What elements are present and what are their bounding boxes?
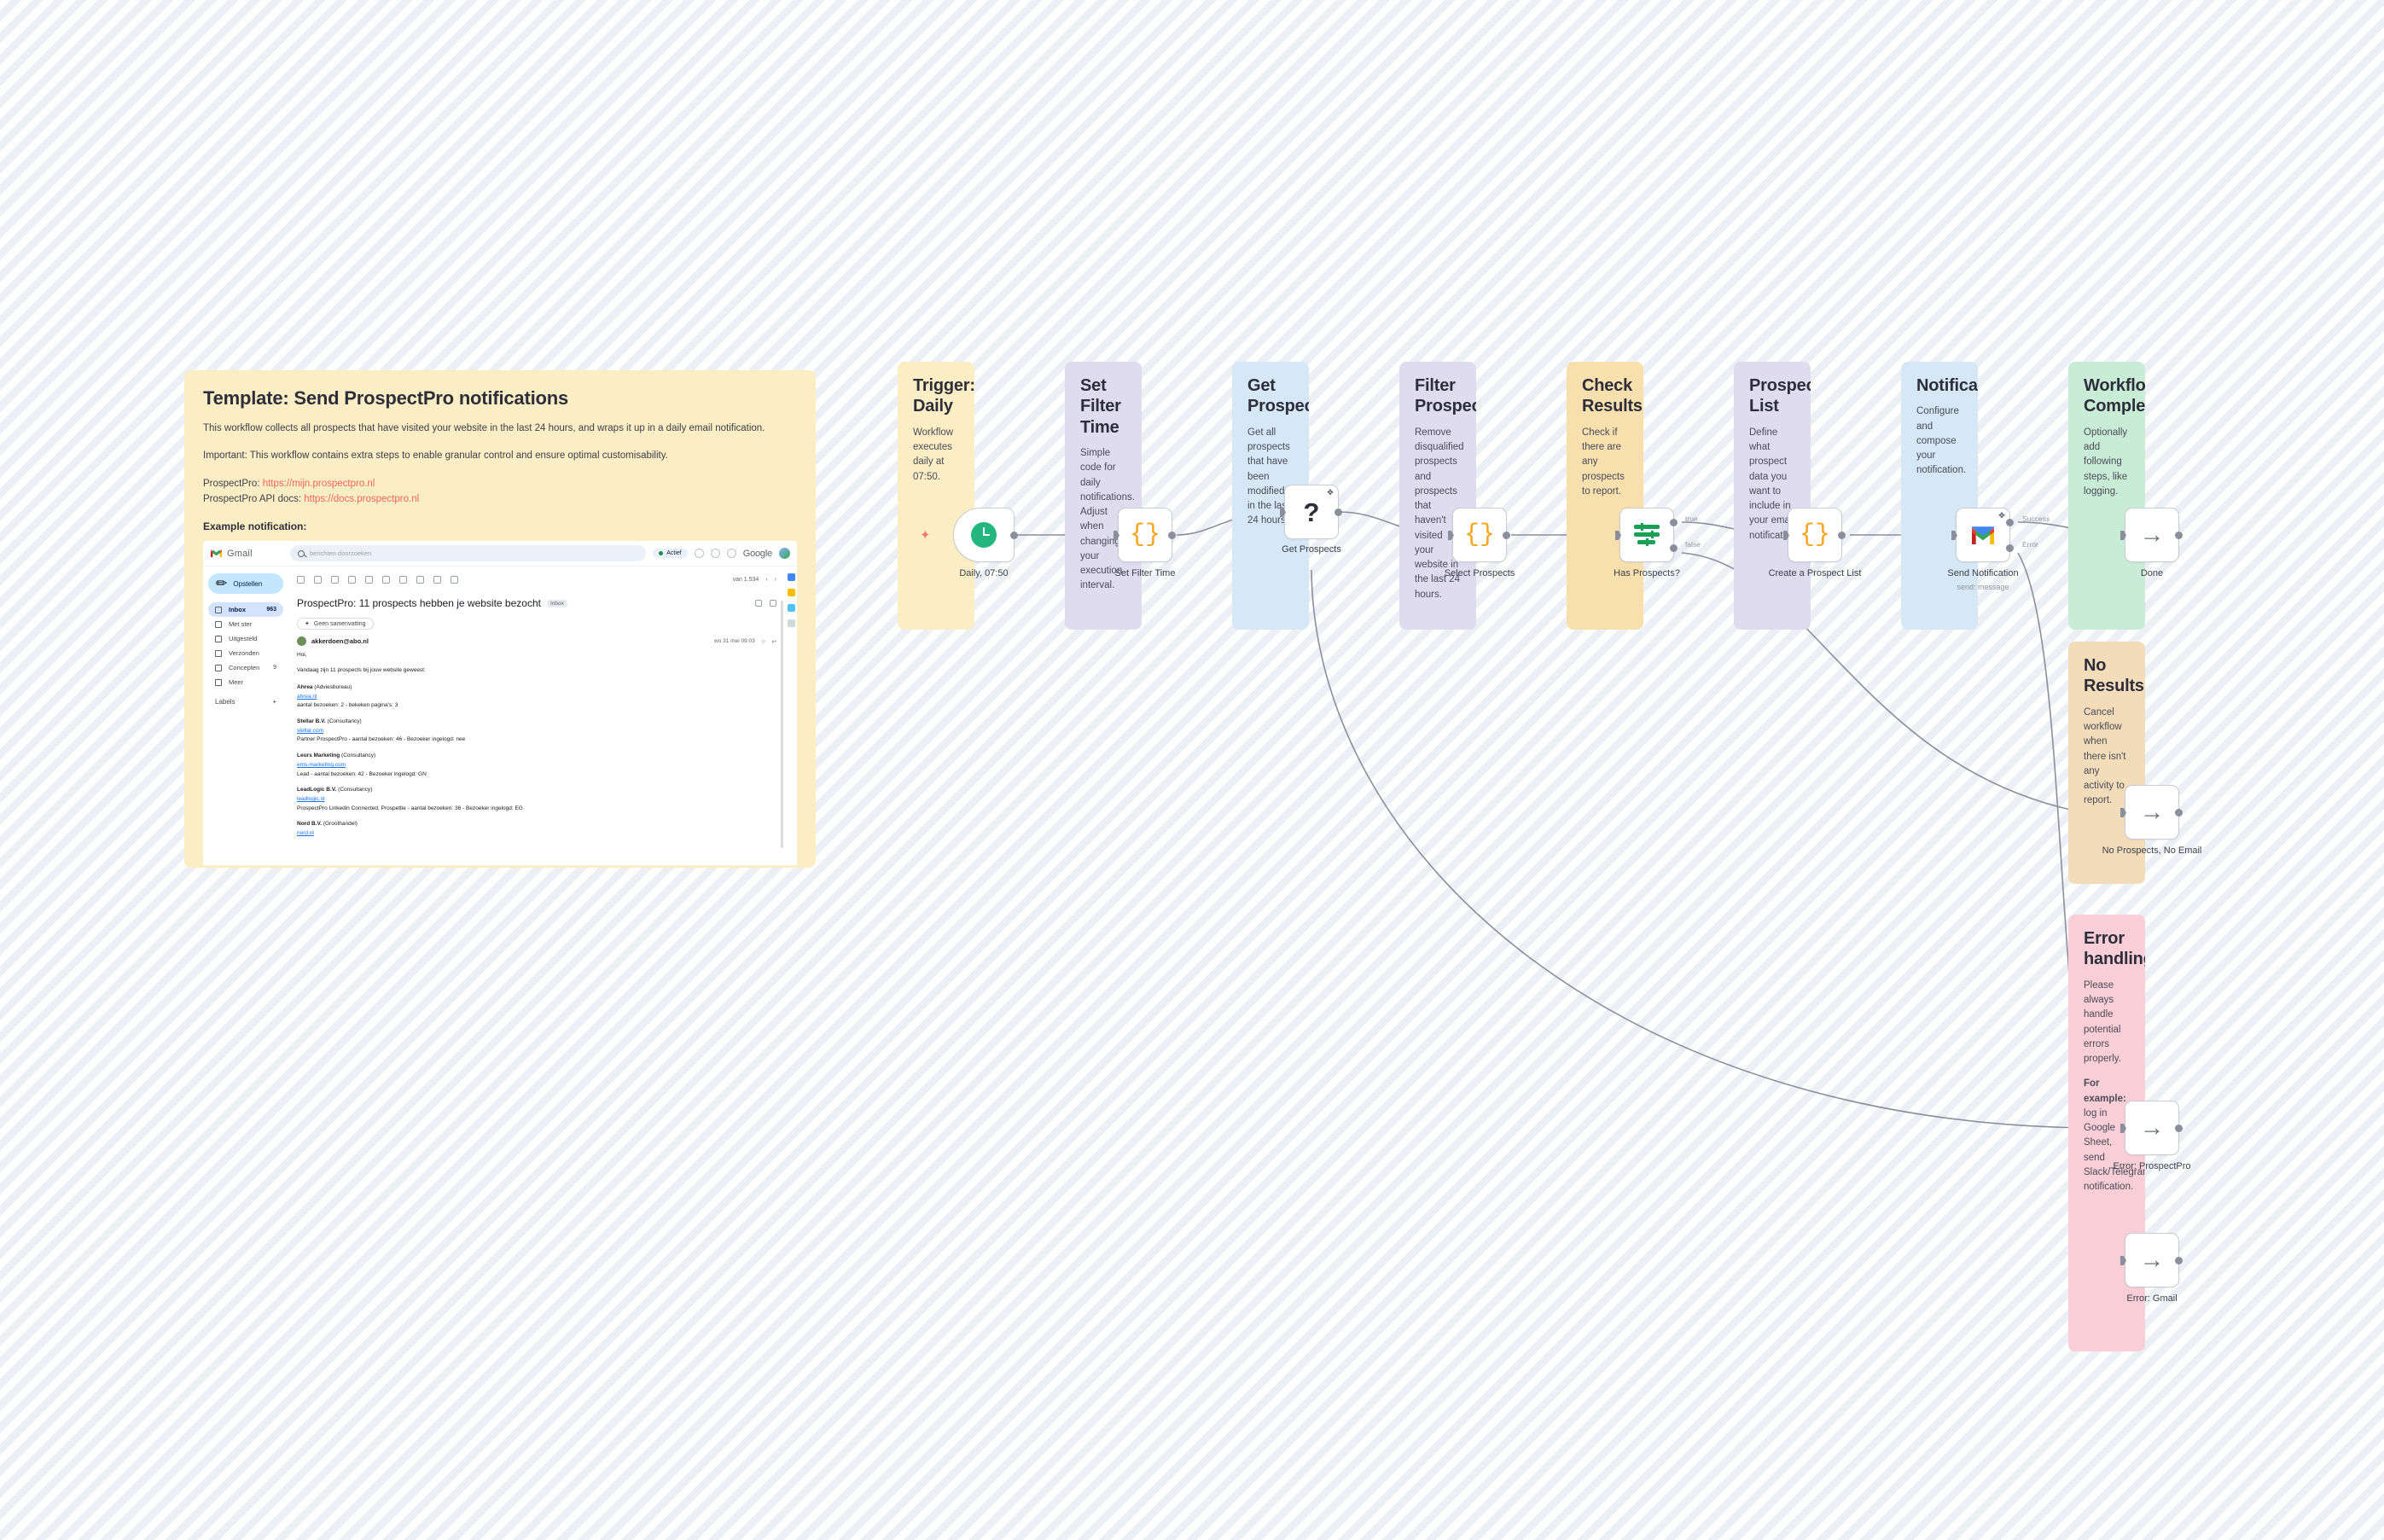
node-label-no-prospects-no-email: No Prospects, No Email (2102, 846, 2202, 856)
prospectpro-api-link[interactable]: https://docs.prospectpro.nl (304, 494, 419, 504)
email-body: Hoi, Vandaag zijn 11 prospects bij jouw … (297, 651, 776, 839)
input-port[interactable] (1783, 531, 1789, 540)
sticky-title: Notification (1916, 375, 1962, 396)
input-port[interactable] (1951, 531, 1957, 540)
send-icon (215, 650, 222, 657)
prospectpro-api-link-label: ProspectPro API docs: (203, 494, 301, 504)
sidebar-item-starred[interactable]: Met ster (208, 617, 283, 631)
gmail-logo-icon (210, 549, 223, 558)
sender-avatar (297, 636, 306, 646)
add-task-icon[interactable] (399, 576, 407, 584)
gmail-toolbar: van 1.534 ‹ › (297, 572, 776, 587)
input-port[interactable] (2120, 1256, 2126, 1265)
input-port[interactable] (1114, 531, 1119, 540)
apps-grid-icon[interactable] (727, 549, 736, 558)
node-select-prospects[interactable]: {} (1452, 508, 1507, 562)
output-port[interactable] (1010, 532, 1018, 539)
prospect-role: (Groothandel) (323, 821, 358, 827)
email-subject: ProspectPro: 11 prospects hebben je webs… (297, 597, 776, 609)
summary-chip-label: Geen samenvatting (314, 621, 366, 627)
gmail-filter-chip[interactable]: Actief (653, 549, 688, 558)
gmail-pager: van 1.534 ‹ › (733, 577, 776, 583)
sticky-title: Error handling (2084, 928, 2130, 970)
prospect-company: Stellar B.V. (297, 718, 326, 724)
sidebar-item-inbox[interactable]: Inbox 963 (208, 602, 283, 617)
inbox-count: 963 (266, 607, 276, 613)
prospect-item: Stellar B.V. (Consultancy) stellar.com P… (297, 718, 776, 745)
drafts-count: 9 (273, 665, 276, 671)
inbox-tag: Inbox (547, 600, 567, 607)
prospect-meta: Partner ProspectPro - aantal bezoeken: 4… (297, 735, 776, 745)
sticky-title: Check Results (1582, 375, 1628, 417)
draft-icon (215, 665, 222, 671)
report-spam-icon[interactable] (331, 576, 339, 584)
gmail-logo: Gmail (210, 549, 283, 559)
node-label-error-prospectpro: Error: ProspectPro (2113, 1161, 2190, 1171)
prospect-item: Nord B.V. (Groothandel) nord.nl (297, 820, 776, 838)
summary-chip[interactable]: ✦ Geen samenvatting (297, 618, 374, 630)
prospectpro-link-label: ProspectPro: (203, 479, 259, 489)
node-label-get-prospects: Get Prospects (1282, 544, 1341, 555)
output-port[interactable] (2175, 532, 2183, 539)
node-create-prospect-list[interactable]: {} (1788, 508, 1842, 562)
workflow-canvas[interactable]: Template: Send ProspectPro notifications… (0, 0, 2384, 1540)
prospectpro-link[interactable]: https://mijn.prospectpro.nl (263, 479, 375, 489)
prospect-company: Leurs Marketing (297, 753, 340, 758)
subject-actions (755, 600, 776, 607)
prev-page-icon[interactable]: ‹ (765, 577, 767, 583)
node-set-filter-time[interactable]: {} (1118, 508, 1172, 562)
node-label-select-prospects: Select Prospects (1445, 568, 1515, 578)
help-icon[interactable] (695, 549, 704, 558)
gmail-message-pane: van 1.534 ‹ › ProspectPro: 11 prospects … (288, 567, 785, 865)
output-port[interactable] (1503, 532, 1510, 539)
sticky-note-filter-prospects[interactable]: Filter Prospects Remove disqualified pro… (1399, 362, 1476, 630)
sticky-body: Optionally add following steps, like log… (2084, 426, 2130, 499)
prospect-link[interactable]: ems-marketing.com (297, 762, 346, 768)
prospect-company: LeadLogic B.V. (297, 787, 336, 793)
prospect-meta: Lead - aantal bezoeken: 42 - Bezoeker in… (297, 770, 776, 780)
compose-label: Opstellen (233, 580, 262, 588)
input-port[interactable] (2120, 808, 2126, 817)
archive-icon[interactable] (314, 576, 322, 584)
gmail-filter-chip-label: Actief (666, 550, 682, 556)
gmail-topbar: Gmail berichten doorzoeken Actief Google (203, 541, 797, 567)
prospect-link[interactable]: ahrea.nl (297, 694, 317, 700)
node-has-prospects[interactable] (1619, 508, 1674, 562)
gmail-search-input[interactable]: berichten doorzoeken (290, 545, 646, 561)
timestamp-text: wo 31 mei 09:03 (714, 638, 755, 644)
labels-icon[interactable] (433, 576, 441, 584)
node-label-error-gmail: Error: Gmail (2126, 1293, 2177, 1304)
output-port[interactable] (2175, 809, 2183, 816)
output-port[interactable] (1838, 532, 1846, 539)
gmail-icon (1970, 526, 1996, 545)
node-get-prospects[interactable]: ? ✥ (1284, 485, 1339, 539)
search-icon (298, 550, 305, 557)
input-port[interactable] (1615, 531, 1621, 540)
prospect-role: (Adviesbureau) (314, 684, 352, 690)
sparkle-icon: ✦ (305, 620, 310, 627)
edge-label-success: Success (2022, 514, 2050, 523)
sidebar-item-label: Met ster (229, 620, 252, 628)
delete-icon[interactable] (348, 576, 356, 584)
prospect-link[interactable]: leadlogic.nl (297, 796, 325, 802)
sidebar-item-snoozed[interactable]: Uitgesteld (208, 631, 283, 646)
pager-text: van 1.534 (733, 577, 759, 583)
prospectpro-link-row: ProspectPro: https://mijn.prospectpro.nl (203, 476, 797, 491)
gmail-wordmark: Gmail (227, 549, 253, 559)
gmail-side-rail (785, 567, 797, 865)
node-label-set-filter-time: Set Filter Time (1115, 568, 1176, 578)
node-send-notification[interactable]: ✥ (1956, 508, 2010, 562)
output-port[interactable] (1334, 508, 1342, 516)
clock-icon (971, 522, 997, 548)
google-wordmark: Google (743, 549, 772, 559)
print-icon[interactable] (755, 600, 762, 607)
example-notification-label: Example notification: (203, 520, 797, 532)
sticky-note-set-filter-time[interactable]: Set Filter Time Simple code for daily no… (1065, 362, 1142, 630)
clock-icon (215, 636, 222, 642)
pencil-icon: ✏ (216, 575, 227, 592)
template-title: Template: Send ProspectPro notifications (203, 387, 797, 410)
prospect-company: Nord B.V. (297, 821, 322, 827)
email-greeting: Hoi, (297, 651, 776, 660)
star-icon[interactable]: ☆ (761, 638, 766, 645)
edge-label-true: true (1685, 514, 1698, 523)
email-timestamp: wo 31 mei 09:03 ☆ ↩ (714, 638, 776, 645)
sticky-body-2: For example: log in Google Sheet, send S… (2084, 1077, 2130, 1194)
status-dot-icon (659, 551, 663, 555)
next-page-icon[interactable]: › (775, 577, 776, 583)
open-in-new-window-icon[interactable] (770, 600, 776, 607)
output-port-error[interactable] (2006, 544, 2014, 552)
sticky-body: Cancel workflow when there isn't any act… (2084, 706, 2130, 809)
prospect-role: (Consultancy) (328, 718, 362, 724)
sidebar-item-drafts[interactable]: Concepten 9 (208, 660, 283, 675)
compose-button[interactable]: ✏ Opstellen (208, 573, 283, 594)
avatar[interactable] (779, 548, 790, 559)
mark-unread-icon[interactable] (365, 576, 373, 584)
output-port[interactable] (2175, 1257, 2183, 1264)
sticky-title: No Results (2084, 655, 2130, 697)
prospect-item: LeadLogic B.V. (Consultancy) leadlogic.n… (297, 786, 776, 813)
settings-gear-icon[interactable] (711, 549, 720, 558)
sticky-body: Check if there are any prospects to repo… (1582, 426, 1628, 499)
prospect-role: (Consultancy) (338, 787, 372, 793)
gmail-screenshot-preview: Gmail berichten doorzoeken Actief Google (203, 541, 797, 865)
edge-label-false: false (1685, 540, 1701, 549)
sticky-title: Filter Prospects (1415, 375, 1461, 417)
sidebar-item-label: Meer (229, 678, 243, 686)
prospect-link[interactable]: stellar.com (297, 728, 323, 734)
email-sender-row: akkerdoen@abo.nl wo 31 mei 09:03 ☆ ↩ (297, 636, 776, 646)
sidebar-item-sent[interactable]: Verzonden (208, 646, 283, 660)
template-paragraph-2: Important: This workflow contains extra … (203, 449, 797, 464)
noop-arrow-icon: → (2140, 1248, 2165, 1273)
sticky-note-prospect-list[interactable]: Prospect List Define what prospect data … (1734, 362, 1811, 630)
noop-arrow-icon: → (2140, 800, 2165, 825)
inbox-icon (215, 607, 222, 613)
sticky-title: Set Filter Time (1080, 375, 1126, 438)
input-port[interactable] (2120, 531, 2126, 540)
back-arrow-icon[interactable] (297, 576, 305, 584)
prospect-meta: aantal bezoeken: 2 - bekeken pagina's: 3 (297, 701, 776, 711)
more-options-icon[interactable] (451, 576, 458, 584)
sidebar-item-label: Inbox (229, 606, 246, 613)
noop-arrow-icon: → (2140, 1116, 2165, 1141)
sticky-body: Configure and compose your notification. (1916, 404, 1962, 478)
noop-arrow-icon: → (2140, 523, 2165, 548)
prospect-company: Ahrea (297, 684, 312, 690)
node-label-send-notification: Send Notification (1947, 568, 2018, 578)
sticky-note-trigger-daily[interactable]: Trigger: Daily Workflow executes daily a… (898, 362, 974, 630)
unknown-node-icon: ? (1304, 499, 1320, 526)
labels-header[interactable]: Labels + (208, 689, 283, 706)
sticky-body-2-strong: For example: (2084, 1078, 2126, 1103)
sidebar-item-label: Verzonden (229, 649, 259, 657)
edge-label-error: Error (2022, 540, 2038, 549)
code-icon: {} (1464, 522, 1495, 548)
input-port[interactable] (1448, 531, 1454, 540)
email-lead: Vandaag zijn 11 prospects bij jouw websi… (297, 666, 776, 676)
sender-address: akkerdoen@abo.nl (311, 637, 369, 645)
pin-icon[interactable]: ✥ (1327, 489, 1334, 496)
keep-icon[interactable] (788, 589, 795, 596)
filter-icon (1634, 523, 1660, 547)
node-label-create-prospect-list: Create a Prospect List (1769, 568, 1862, 578)
contacts-icon[interactable] (788, 619, 795, 627)
gmail-search-placeholder: berichten doorzoeken (310, 549, 371, 557)
prospect-item: Ahrea (Adviesbureau) ahrea.nl aantal bez… (297, 683, 776, 711)
snooze-icon[interactable] (382, 576, 390, 584)
node-error-gmail[interactable]: → (2125, 1233, 2179, 1287)
code-icon: {} (1800, 522, 1830, 548)
node-label-daily-trigger: Daily, 07:50 (959, 568, 1008, 578)
sticky-title: Trigger: Daily (913, 375, 959, 417)
sidebar-item-more[interactable]: Meer (208, 675, 283, 689)
chevron-down-icon (215, 679, 222, 686)
sticky-title: Prospect List (1749, 375, 1795, 417)
sticky-body: Workflow executes daily at 07:50. (913, 426, 959, 485)
output-port-false[interactable] (1670, 544, 1678, 552)
input-port[interactable] (1280, 508, 1286, 517)
gmail-sidebar: ✏ Opstellen Inbox 963 Met ster Uitg (203, 567, 288, 865)
prospectpro-api-link-row: ProspectPro API docs: https://docs.prosp… (203, 491, 797, 507)
output-port-success[interactable] (2006, 519, 2014, 526)
node-done[interactable]: → (2125, 508, 2179, 562)
prospect-item: Leurs Marketing (Consultancy) ems-market… (297, 752, 776, 779)
prospect-role: (Consultancy) (341, 753, 375, 758)
trigger-spark-icon: ✦ (920, 529, 931, 542)
tasks-icon[interactable] (788, 604, 795, 612)
prospect-meta: ProspectPro Linkedin Connected, Prospett… (297, 805, 776, 814)
pin-icon[interactable]: ✥ (1998, 512, 2005, 519)
input-port[interactable] (2120, 1124, 2126, 1133)
email-subject-text: ProspectPro: 11 prospects hebben je webs… (297, 597, 541, 609)
sticky-note-check-results[interactable]: Check Results Check if there are any pro… (1567, 362, 1643, 630)
output-port[interactable] (2175, 1124, 2183, 1132)
move-to-icon[interactable] (416, 576, 424, 584)
node-label-done: Done (2141, 568, 2163, 578)
template-sticky-note[interactable]: Template: Send ProspectPro notifications… (184, 370, 816, 868)
node-no-prospects-no-email[interactable]: → (2125, 785, 2179, 840)
sticky-title: Workflow Completed (2084, 375, 2130, 417)
reply-icon[interactable]: ↩ (772, 638, 776, 645)
node-daily-trigger[interactable] (953, 508, 1015, 562)
node-sublabel-send-notification: send: message (1957, 583, 2009, 591)
node-error-prospectpro[interactable]: → (2125, 1101, 2179, 1155)
sticky-note-workflow-completed[interactable]: Workflow Completed Optionally add follow… (2068, 362, 2145, 630)
code-icon: {} (1130, 522, 1160, 548)
add-label-icon[interactable]: + (272, 698, 276, 706)
prospect-link[interactable]: nord.nl (297, 830, 314, 836)
output-port-true[interactable] (1670, 519, 1678, 526)
scrollbar[interactable] (781, 601, 783, 848)
calendar-icon[interactable] (788, 573, 795, 581)
sticky-body: Please always handle potential errors pr… (2084, 979, 2130, 1067)
gmail-body: ✏ Opstellen Inbox 963 Met ster Uitg (203, 567, 797, 865)
sticky-title: Get Prospects (1247, 375, 1294, 417)
sidebar-item-label: Concepten (229, 664, 259, 671)
sidebar-item-label: Uitgesteld (229, 635, 257, 642)
labels-label: Labels (215, 698, 235, 706)
template-paragraph-1: This workflow collects all prospects tha… (203, 421, 797, 437)
star-icon (215, 621, 222, 628)
output-port[interactable] (1168, 532, 1176, 539)
node-label-has-prospects: Has Prospects? (1614, 568, 1680, 578)
